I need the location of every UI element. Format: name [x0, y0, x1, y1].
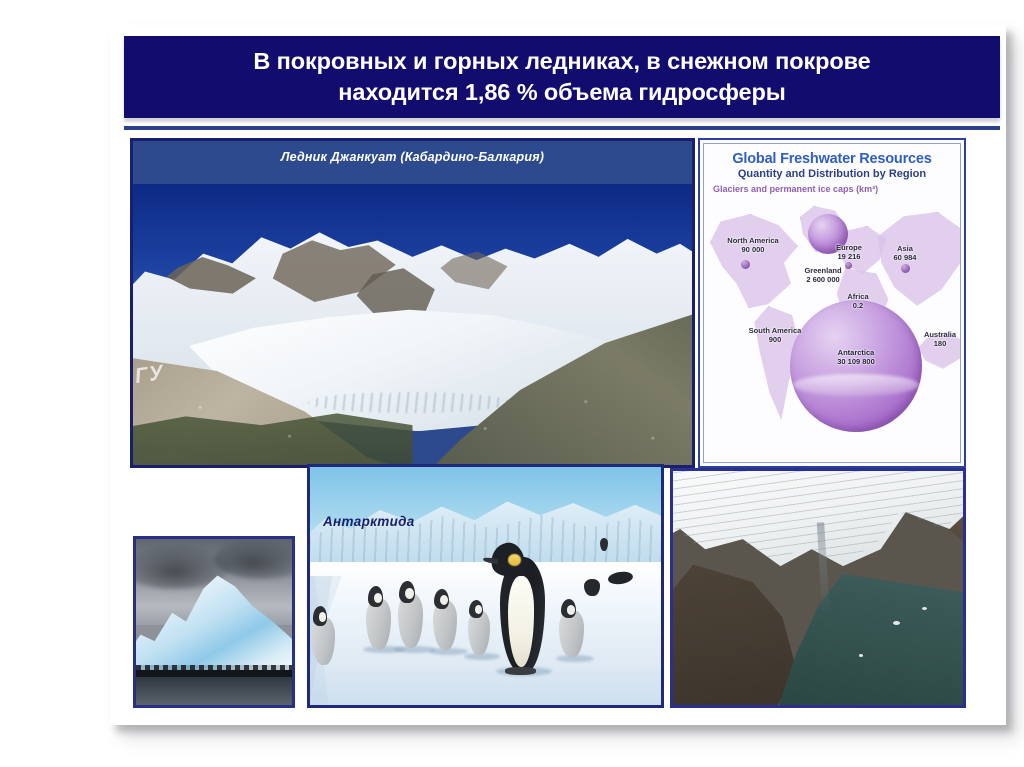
map-label-value: 900 [736, 335, 814, 344]
photo-penguins-antarctica: Антарктида [307, 464, 664, 708]
volume-sphere-north-america [741, 260, 750, 269]
landmass-north-america [710, 214, 798, 308]
map-label-name: Africa [847, 292, 868, 301]
penguin-chick [433, 600, 457, 650]
aerial-teal-water [777, 574, 966, 708]
glacier-scree-speckle [133, 369, 692, 465]
map-label-north-america: North America 90 000 [714, 236, 792, 255]
infographic-freshwater-resources: Global Freshwater Resources Quantity and… [698, 138, 966, 468]
penguin-distant [584, 579, 600, 596]
map-label-greenland: Greenland 2 600 000 [788, 266, 858, 285]
map-label-name: North America [727, 236, 778, 245]
map-label-value: 19 216 [824, 252, 874, 261]
penguin-photo-caption: Антарктида [323, 514, 415, 529]
photo-watermark: ГУ [133, 361, 165, 389]
penguin-adult-cheek-patch [508, 554, 521, 566]
slide-content-area: ГУ Ледник Джанкуат (Кабардино-Балкария) … [124, 132, 1000, 720]
map-label-name: Asia [897, 244, 913, 253]
map-label-antarctica: Antarctica 30 109 800 [808, 348, 904, 367]
penguin-chick [398, 593, 423, 648]
map-label-name: Antarctica [838, 348, 875, 357]
penguin-chick [559, 610, 584, 658]
infographic-note: Glaciers and permanent ice caps (km³) [713, 184, 960, 194]
iceberg-sea [136, 677, 292, 705]
title-underline-rule [124, 126, 1000, 130]
map-label-value: 90 000 [714, 245, 792, 254]
slide-root: В покровных и горных ледниках, в снежном… [0, 0, 1024, 767]
map-label-value: 180 [916, 339, 961, 348]
infographic-subtitle: Quantity and Distribution by Region [704, 168, 960, 180]
map-label-value: 30 109 800 [808, 357, 904, 366]
map-label-europe: Europe 19 216 [824, 243, 874, 262]
infographic-inner-frame: Global Freshwater Resources Quantity and… [703, 143, 961, 463]
main-glacier-image: ГУ [133, 184, 692, 465]
map-label-name: Europe [836, 243, 862, 252]
map-label-south-america: South America 900 [736, 326, 814, 345]
map-label-australia: Australia 180 [916, 330, 961, 349]
map-label-value: 2 600 000 [788, 275, 858, 284]
slide-title: В покровных и горных ледниках, в снежном… [229, 46, 894, 108]
penguin-adult-feet [505, 667, 537, 675]
aerial-ice-floe [922, 607, 927, 610]
photo-main-glacier: ГУ Ледник Джанкуат (Кабардино-Балкария) [130, 138, 695, 468]
map-label-name: South America [749, 326, 802, 335]
aerial-ice-floe [859, 654, 863, 657]
map-label-name: Greenland [804, 266, 841, 275]
photo-aerial-glacier [670, 468, 966, 708]
aerial-ice-floe [893, 621, 900, 625]
map-label-name: Australia [924, 330, 956, 339]
map-label-africa: Africa 0.2 [836, 292, 880, 311]
map-label-value: 0.2 [836, 301, 880, 310]
penguin-chick [312, 617, 335, 665]
infographic-title: Global Freshwater Resources [704, 151, 960, 167]
photo-iceberg [133, 536, 295, 708]
map-label-asia: Asia 60 984 [880, 244, 930, 263]
volume-sphere-asia [901, 264, 910, 273]
infographic-world-map: North America 90 000 Greenland 2 600 000… [704, 196, 960, 434]
main-glacier-caption: Ледник Джанкуат (Кабардино-Балкария) [133, 150, 692, 164]
map-label-value: 60 984 [880, 253, 930, 262]
slide-title-bar: В покровных и горных ледниках, в снежном… [124, 36, 1000, 118]
